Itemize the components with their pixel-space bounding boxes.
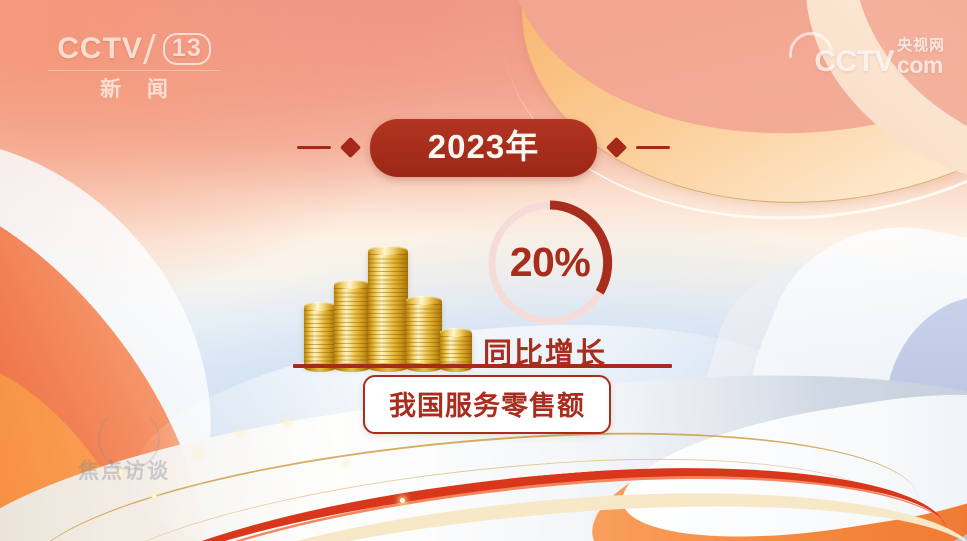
cctvcom-suffix-group: 央视网 com bbox=[897, 38, 945, 77]
percent-donut-chart: 20% bbox=[483, 196, 617, 330]
sparkle-dot bbox=[238, 432, 241, 435]
sparkle-dot bbox=[344, 462, 347, 465]
coin-stack bbox=[440, 332, 472, 368]
ornament-dash-left bbox=[297, 146, 331, 149]
cctv13-subtitle: 新 闻 bbox=[48, 70, 220, 103]
coin-stack bbox=[368, 250, 408, 368]
subject-label-box: 我国服务零售额 bbox=[363, 375, 611, 434]
cctvcom-chinese-name: 央视网 bbox=[897, 38, 945, 53]
coin-stack bbox=[304, 306, 336, 368]
coin-stack-body bbox=[304, 306, 336, 368]
coin-stack bbox=[406, 300, 442, 368]
sparkle-dot bbox=[286, 420, 290, 424]
coin-stack-top-face bbox=[304, 302, 336, 311]
ornament-diamond-left bbox=[340, 137, 361, 158]
coin-stacks-illustration bbox=[296, 240, 486, 368]
year-pill-label: 2023年 bbox=[370, 119, 597, 177]
broadcast-infographic-slide: CCTV 13 新 闻 CCTV 央视网 com 焦点访谈 2023年 bbox=[0, 0, 967, 541]
cctvcom-tld: com bbox=[897, 54, 943, 77]
cctvcom-watermark: CCTV 央视网 com bbox=[814, 38, 945, 77]
change-label: 同比增长 bbox=[483, 330, 607, 372]
percent-value-label: 20% bbox=[483, 196, 617, 330]
sparkle-dot bbox=[400, 498, 405, 503]
ornament-diamond-right bbox=[606, 137, 627, 158]
coin-stack-body bbox=[368, 250, 408, 368]
coin-stack bbox=[334, 284, 370, 368]
coin-stack-top-face bbox=[334, 280, 370, 289]
coin-stack-top-face bbox=[440, 328, 472, 337]
ornament-dash-right bbox=[636, 146, 670, 149]
cctv13-channel-number: 13 bbox=[163, 33, 211, 65]
cctv13-channel-logo: CCTV 13 新 闻 bbox=[48, 32, 220, 103]
program-watermark-label: 焦点访谈 bbox=[78, 455, 170, 485]
coin-stack-body bbox=[334, 284, 370, 368]
sparkle-dot bbox=[196, 452, 200, 456]
year-header: 2023年 bbox=[0, 119, 967, 177]
cctv13-logo-row: CCTV 13 bbox=[48, 32, 220, 66]
sparkle-dot bbox=[152, 494, 156, 498]
coin-stack-top-face bbox=[368, 246, 408, 255]
cctv-wordmark: CCTV bbox=[57, 32, 143, 66]
coin-stack-top-face bbox=[406, 296, 442, 305]
coin-stack-body bbox=[406, 300, 442, 368]
